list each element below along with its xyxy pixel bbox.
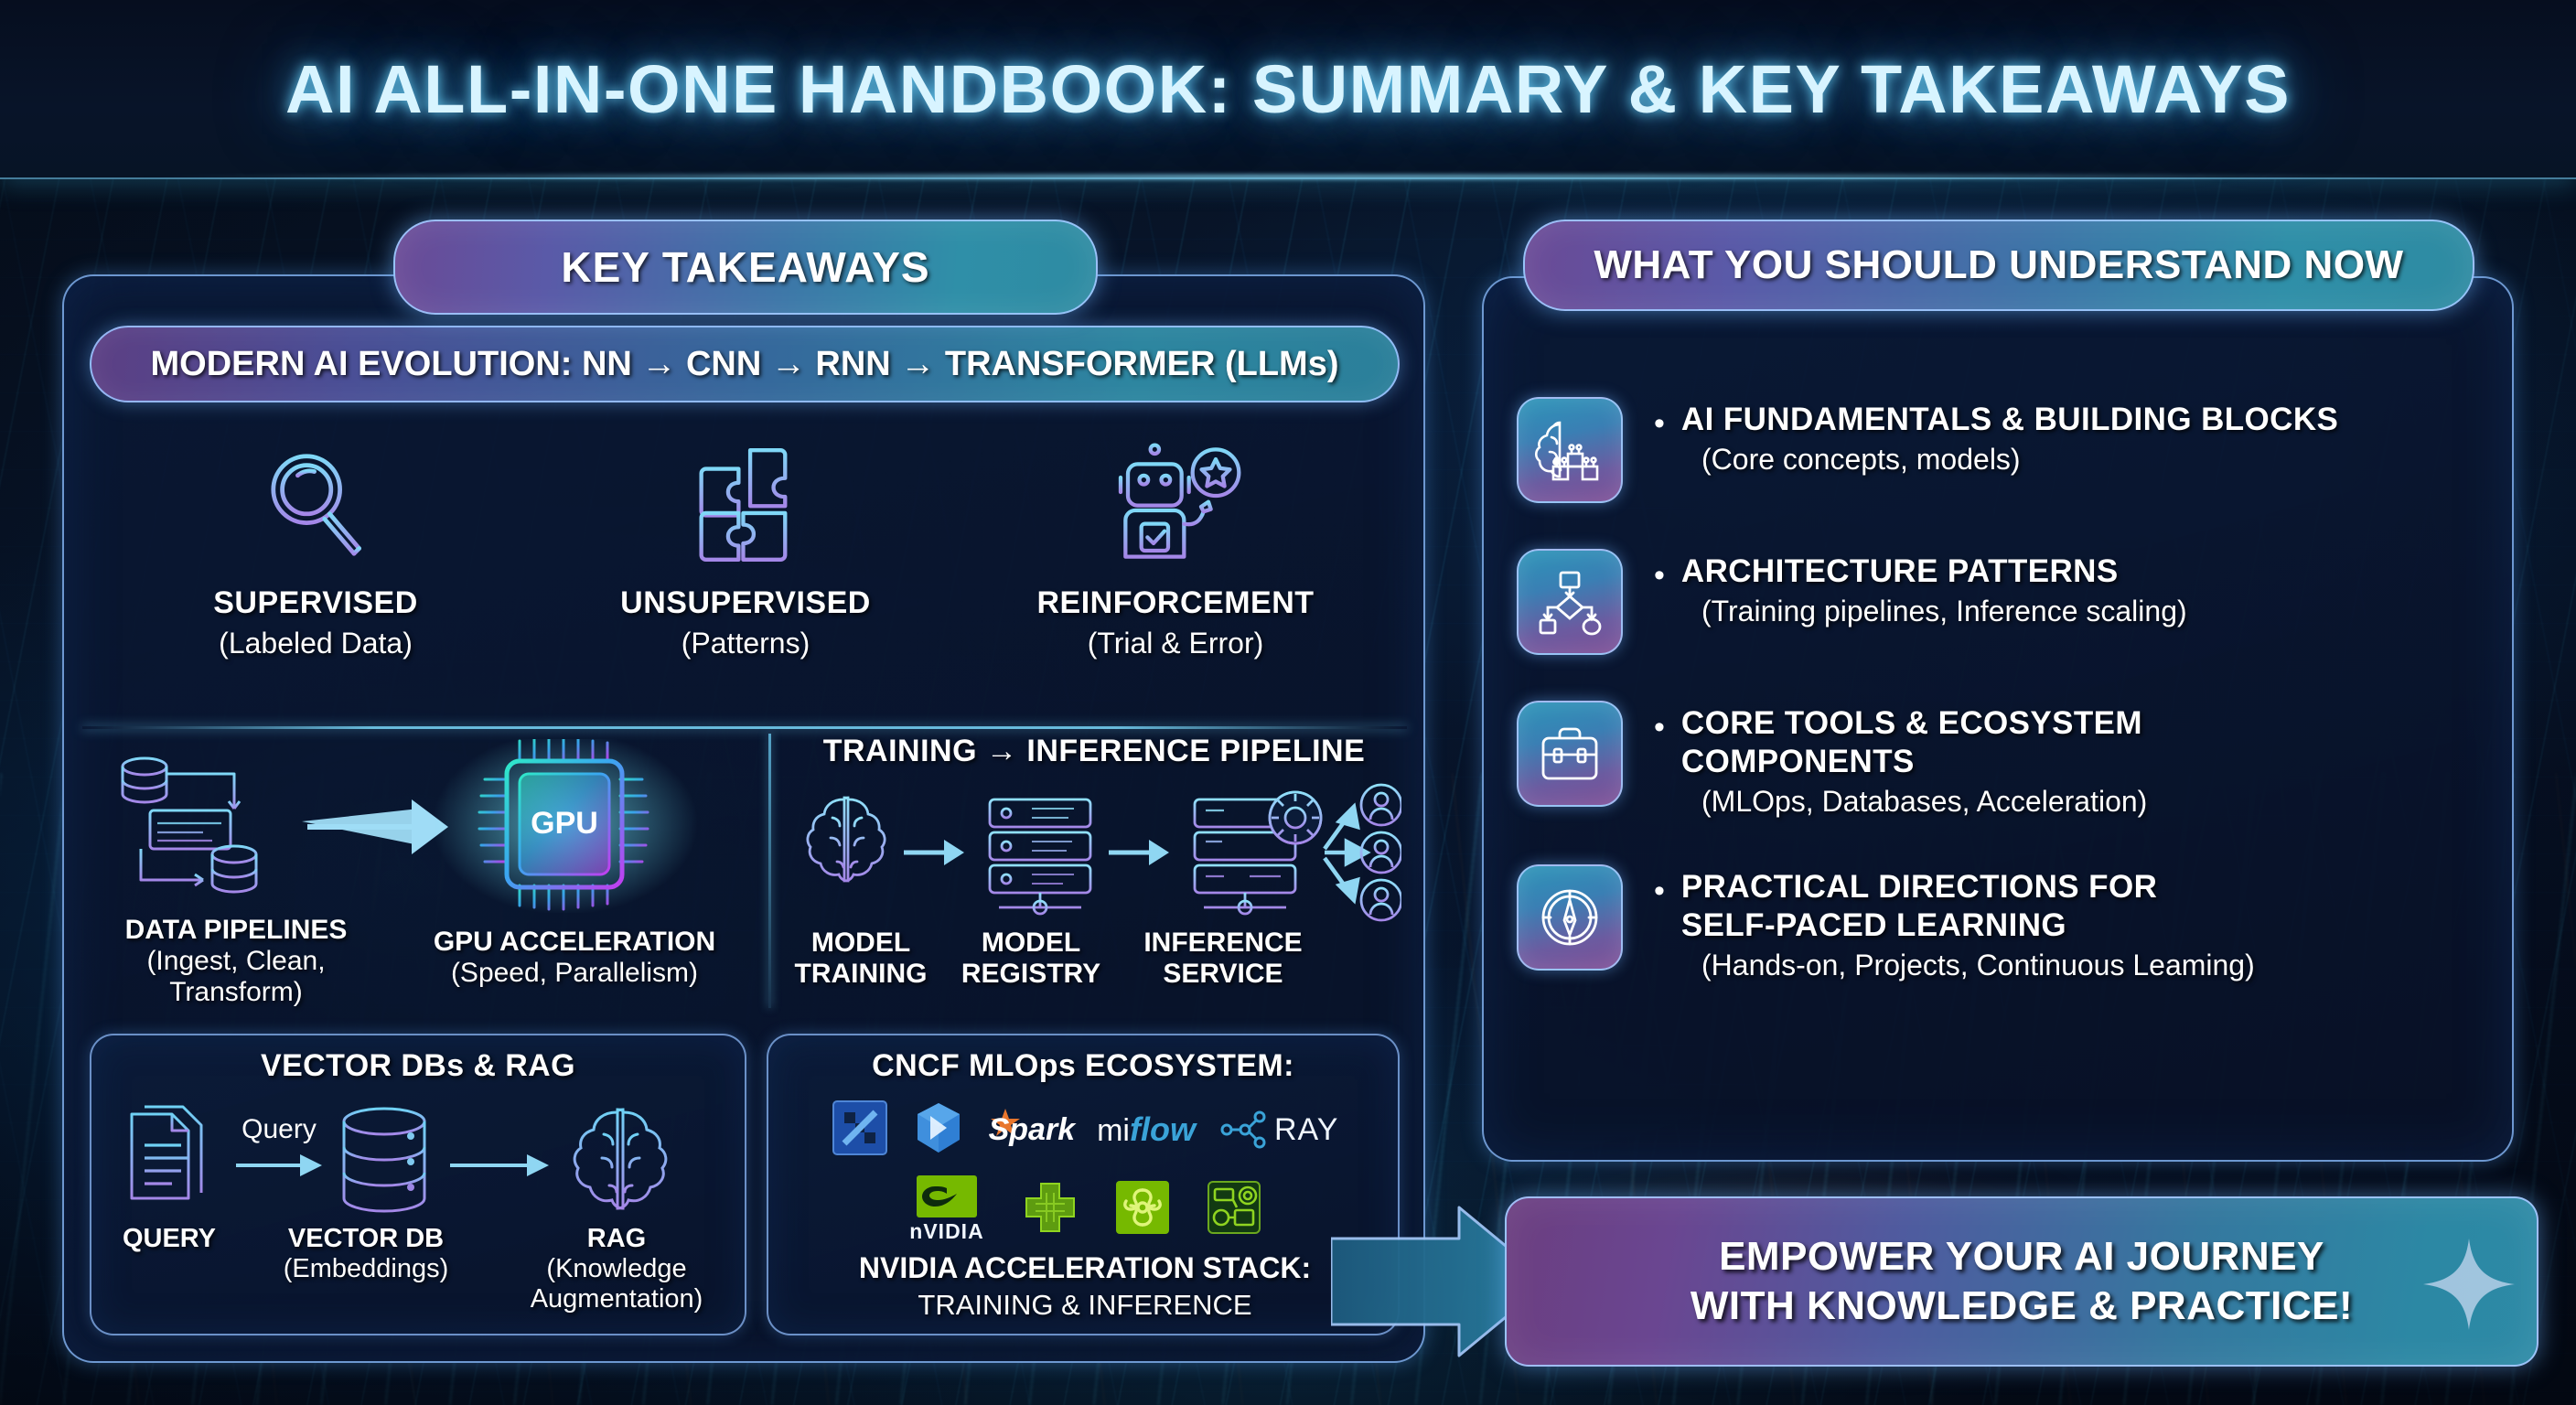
brain-blocks-icon xyxy=(1517,397,1623,503)
data-pipeline-icon xyxy=(123,758,256,892)
bullet-subtitle: (MLOps, Databases, Acceleration) xyxy=(1701,785,2147,819)
bullet-architecture-patterns: • ARCHITECTURE PATTERNS (Training pipeli… xyxy=(1517,549,2485,655)
cta-banner: EMPOWER YOUR AI JOURNEY WITH KNOWLEDGE &… xyxy=(1505,1196,2538,1367)
learning-type-title: REINFORCEMENT xyxy=(1036,585,1314,621)
understand-now-panel: • AI FUNDAMENTALS & BUILDING BLOCKS (Cor… xyxy=(1482,276,2514,1162)
pipeline-title: TRAINING → INFERENCE PIPELINE xyxy=(787,734,1401,769)
key-takeaways-label: KEY TAKEAWAYS xyxy=(561,242,929,292)
robot-star-icon xyxy=(1107,441,1244,569)
learning-type-supervised: SUPERVISED (Labeled Data) xyxy=(133,441,499,660)
flowchart-icon xyxy=(1517,549,1623,655)
gpu-chip-icon: GPU xyxy=(433,739,698,913)
bullet-title-line-2: COMPONENTS xyxy=(1681,744,1915,779)
sparkle-icon xyxy=(2421,1237,2517,1332)
puzzle-icon xyxy=(687,441,804,569)
rag-node-1: VECTOR DB (Embeddings) xyxy=(247,1224,485,1314)
rag-node-labels: QUERY VECTOR DB (Embeddings) RAG (Knowle… xyxy=(91,1224,748,1314)
mlops-logo-row: Spark miflow RAY xyxy=(768,1096,1401,1164)
brain-icon xyxy=(808,798,885,881)
training-inference-pipeline-block: TRAINING → INFERENCE PIPELINE xyxy=(787,734,1401,1017)
bullet-title: ARCHITECTURE PATTERNS xyxy=(1681,552,2119,591)
rag-arrow-icon xyxy=(450,1154,549,1176)
what-you-understand-header-pill: WHAT YOU SHOULD UNDERSTAND NOW xyxy=(1523,220,2474,311)
stage-line-1: MODEL xyxy=(811,928,910,958)
pipeline-diagram xyxy=(787,781,1401,928)
stage-line-2: SERVICE xyxy=(1163,959,1283,989)
cta-section: EMPOWER YOUR AI JOURNEY WITH KNOWLEDGE &… xyxy=(1331,1178,2576,1385)
nvidia-stack-title: NVIDIA ACCELERATION STACK: xyxy=(768,1251,1401,1285)
gpu-acceleration-label: GPU ACCELERATION (Speed, Parallelism) xyxy=(392,927,757,989)
bullet-text-block: • AI FUNDAMENTALS & BUILDING BLOCKS (Cor… xyxy=(1654,397,2338,477)
mlflow-logo: miflow xyxy=(1097,1110,1196,1149)
ecosystem-card-footer: NVIDIA ACCELERATION STACK: TRAINING & IN… xyxy=(768,1251,1401,1322)
cncf-mlops-ecosystem-card: CNCF MLOps ECOSYSTEM: xyxy=(767,1034,1400,1335)
pipeline-stage-labels: MODEL TRAINING MODEL REGISTRY INFERENCE … xyxy=(787,928,1401,989)
bullet-ai-fundamentals: • AI FUNDAMENTALS & BUILDING BLOCKS (Cor… xyxy=(1517,397,2485,503)
data-pipelines-title: DATA PIPELINES xyxy=(125,915,348,945)
node-title: QUERY xyxy=(123,1224,216,1253)
stage-line-2: REGISTRY xyxy=(961,959,1100,989)
section-divider-horizontal xyxy=(82,726,1407,729)
bullet-core-tools: • CORE TOOLS & ECOSYSTEM COMPONENTS (MLO… xyxy=(1517,701,2485,819)
compass-icon xyxy=(1517,864,1623,971)
bullet-text-block: • CORE TOOLS & ECOSYSTEM COMPONENTS (MLO… xyxy=(1654,701,2147,819)
spark-logo-text: Spark xyxy=(989,1112,1076,1148)
flow-arrow-icon xyxy=(302,799,448,854)
bullet-dot: • xyxy=(1654,868,1665,945)
cta-text: EMPOWER YOUR AI JOURNEY WITH KNOWLEDGE &… xyxy=(1690,1232,2353,1330)
magnifier-icon xyxy=(252,441,380,569)
learning-type-reinforcement: REINFORCEMENT (Trial & Error) xyxy=(993,441,1358,660)
query-arrow-icon xyxy=(236,1154,322,1176)
bullet-title: PRACTICAL DIRECTIONS FOR SELF-PACED LEAR… xyxy=(1681,868,2157,945)
ray-logo: RAY xyxy=(1218,1108,1338,1152)
bullet-title: AI FUNDAMENTALS & BUILDING BLOCKS xyxy=(1681,401,2338,439)
svg-text:GPU: GPU xyxy=(531,806,598,841)
bullet-subtitle: (Training pipelines, Inference scaling) xyxy=(1701,595,2187,628)
bullet-title-line-1: PRACTICAL DIRECTIONS FOR xyxy=(1681,869,2157,905)
bullet-text-block: • ARCHITECTURE PATTERNS (Training pipeli… xyxy=(1654,549,2187,628)
bullet-dot: • xyxy=(1654,704,1665,781)
nvidia-stack-subtitle: TRAINING & INFERENCE xyxy=(768,1289,1401,1322)
query-edge-label: Query xyxy=(241,1114,317,1144)
cta-line-2: WITH KNOWLEDGE & PRACTICE! xyxy=(1690,1283,2353,1328)
data-pipelines-label: DATA PIPELINES (Ingest, Clean, Transform… xyxy=(80,915,392,1008)
nvidia-logo: nVIDIA xyxy=(909,1175,983,1244)
data-pipelines-sub1: (Ingest, Clean, xyxy=(146,946,325,976)
bullet-subtitle: (Core concepts, models) xyxy=(1701,443,2338,477)
inference-server-icon xyxy=(1195,792,1321,914)
server-rack-icon xyxy=(990,799,1090,914)
node-title: RAG xyxy=(587,1224,646,1253)
node-subtitle-1: (Knowledge xyxy=(546,1254,686,1283)
rag-flow-diagram: Query xyxy=(91,1099,748,1228)
key-takeaways-header-pill: KEY TAKEAWAYS xyxy=(393,220,1098,315)
gpu-acceleration-sub: (Speed, Parallelism) xyxy=(451,958,698,988)
stage-line-1: INFERENCE xyxy=(1143,928,1302,958)
gpu-acceleration-block: GPU DATA PIPELINES (Ingest, Clean, Trans… xyxy=(90,739,757,1014)
document-icon xyxy=(132,1107,201,1198)
kserve-logo xyxy=(910,1099,967,1161)
cuda-plus-logo xyxy=(1023,1180,1078,1239)
nvidia-logo-row: nVIDIA xyxy=(768,1174,1401,1244)
node-title: VECTOR DB xyxy=(288,1224,444,1253)
bullet-dot: • xyxy=(1654,401,1665,439)
key-takeaways-panel: MODERN AI EVOLUTION: NN → CNN → RNN → TR… xyxy=(62,274,1425,1363)
node-subtitle: (Embeddings) xyxy=(284,1254,449,1283)
triton-logo xyxy=(1207,1181,1261,1239)
bullet-title: CORE TOOLS & ECOSYSTEM COMPONENTS xyxy=(1681,704,2142,781)
spark-logo: Spark xyxy=(989,1107,1076,1153)
page-title: AI ALL-IN-ONE HANDBOOK: SUMMARY & KEY TA… xyxy=(285,50,2291,128)
ai-evolution-label: MODERN AI EVOLUTION: NN → CNN → RNN → TR… xyxy=(151,345,1339,384)
ray-logo-text: RAY xyxy=(1274,1112,1338,1148)
pipeline-stage-2: INFERENCE SERVICE xyxy=(1127,928,1319,989)
gpu-acceleration-title: GPU ACCELERATION xyxy=(434,927,715,957)
cta-line-1: EMPOWER YOUR AI JOURNEY xyxy=(1719,1234,2324,1279)
learning-type-subtitle: (Labeled Data) xyxy=(219,627,413,660)
learning-type-title: SUPERVISED xyxy=(213,585,418,621)
data-pipeline-to-gpu-diagram: GPU xyxy=(90,739,757,913)
brain-icon xyxy=(574,1110,666,1208)
bullet-title-line-2: SELF-PACED LEARNING xyxy=(1681,907,2066,943)
section-divider-vertical xyxy=(768,734,771,1008)
learning-type-title: UNSUPERVISED xyxy=(620,585,871,621)
learning-type-subtitle: (Patterns) xyxy=(682,627,810,660)
rag-node-0: QUERY xyxy=(91,1224,247,1314)
briefcase-icon xyxy=(1517,701,1623,807)
title-bar: AI ALL-IN-ONE HANDBOOK: SUMMARY & KEY TA… xyxy=(0,0,2576,179)
rag-node-2: RAG (Knowledge Augmentation) xyxy=(485,1224,748,1314)
learning-types-row: SUPERVISED (Labeled Data) UNSUPERVIS xyxy=(101,441,1390,715)
bullet-dot: • xyxy=(1654,552,1665,591)
nvidia-logo-text: nVIDIA xyxy=(909,1219,983,1244)
node-subtitle-2: Augmentation) xyxy=(531,1284,703,1314)
database-cylinder-icon xyxy=(344,1109,424,1211)
understand-bullet-list: • AI FUNDAMENTALS & BUILDING BLOCKS (Cor… xyxy=(1517,397,2485,982)
vector-card-title: VECTOR DBs & RAG xyxy=(91,1048,745,1084)
rapids-logo xyxy=(1116,1181,1169,1239)
bullet-subtitle: (Hands-on, Projects, Continuous Leaming) xyxy=(1701,949,2255,982)
ai-evolution-bar: MODERN AI EVOLUTION: NN → CNN → RNN → TR… xyxy=(90,326,1400,402)
bullet-text-block: • PRACTICAL DIRECTIONS FOR SELF-PACED LE… xyxy=(1654,864,2255,982)
data-pipelines-sub2: Transform) xyxy=(169,977,303,1007)
pipeline-stage-0: MODEL TRAINING xyxy=(787,928,935,989)
learning-type-unsupervised: UNSUPERVISED (Patterns) xyxy=(563,441,928,660)
title-underline-glow xyxy=(0,174,2576,180)
bullet-title-line-1: CORE TOOLS & ECOSYSTEM xyxy=(1681,705,2142,741)
pipeline-stage-1: MODEL REGISTRY xyxy=(935,928,1127,989)
stage-line-2: TRAINING xyxy=(795,959,928,989)
bullet-practical-directions: • PRACTICAL DIRECTIONS FOR SELF-PACED LE… xyxy=(1517,864,2485,982)
ecosystem-card-title: CNCF MLOps ECOSYSTEM: xyxy=(768,1048,1398,1084)
what-you-understand-label: WHAT YOU SHOULD UNDERSTAND NOW xyxy=(1594,242,2403,288)
vector-db-rag-card: VECTOR DBs & RAG Query xyxy=(90,1034,746,1335)
kubeflow-logo xyxy=(832,1099,888,1161)
learning-type-subtitle: (Trial & Error) xyxy=(1088,627,1264,660)
stage-line-1: MODEL xyxy=(982,928,1080,958)
